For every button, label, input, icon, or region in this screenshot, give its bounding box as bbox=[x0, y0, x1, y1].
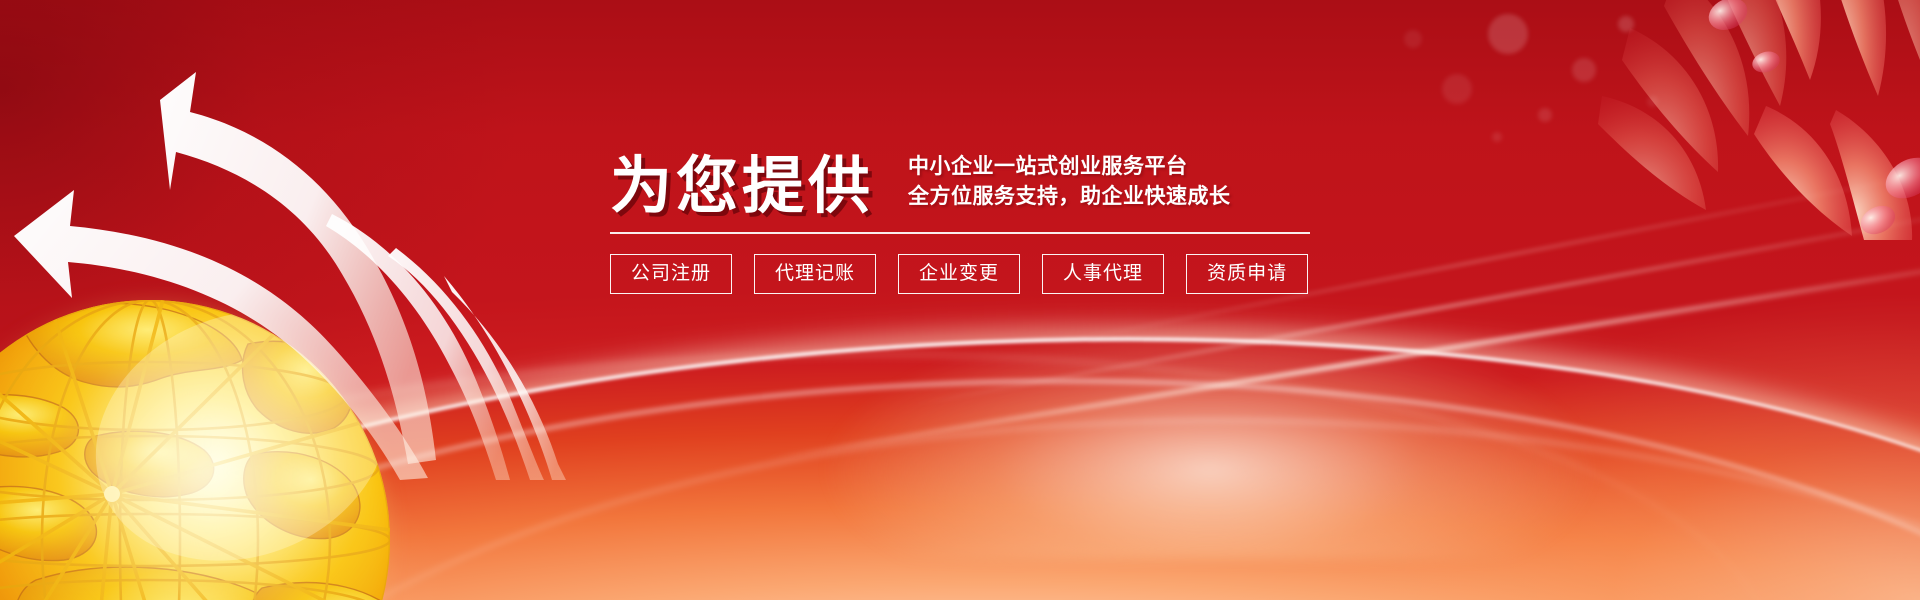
service-button-qualification-application[interactable]: 资质申请 bbox=[1186, 254, 1308, 294]
bokeh-circle-1 bbox=[1488, 14, 1528, 54]
bokeh-circle-5 bbox=[1538, 108, 1552, 122]
bokeh-circle-3 bbox=[1442, 74, 1472, 104]
bokeh-circle-6 bbox=[1492, 132, 1502, 142]
service-button-agency-bookkeeping[interactable]: 代理记账 bbox=[754, 254, 876, 294]
bokeh-circle-7 bbox=[1647, 96, 1658, 107]
bokeh-circle-8 bbox=[1404, 30, 1422, 48]
flower-petal-group bbox=[1598, 0, 1920, 240]
bokeh-circle-4 bbox=[1618, 16, 1634, 32]
bokeh-circle-2 bbox=[1572, 58, 1596, 82]
subtitle-line-2: 全方位服务支持，助企业快速成长 bbox=[908, 182, 1231, 212]
subtitle-group: 中小企业一站式创业服务平台 全方位服务支持，助企业快速成长 bbox=[908, 152, 1231, 218]
service-button-company-registration[interactable]: 公司注册 bbox=[610, 254, 732, 294]
subtitle-line-1: 中小企业一站式创业服务平台 bbox=[908, 152, 1231, 182]
page-title: 为您提供 bbox=[610, 156, 874, 218]
service-button-row: 公司注册 代理记账 企业变更 人事代理 资质申请 bbox=[610, 254, 1320, 294]
arrow-graphic bbox=[0, 60, 620, 480]
arrow-lower bbox=[14, 190, 428, 480]
headline-row: 为您提供 中小企业一站式创业服务平台 全方位服务支持，助企业快速成长 bbox=[610, 152, 1320, 218]
service-button-enterprise-change[interactable]: 企业变更 bbox=[898, 254, 1020, 294]
banner-content: 为您提供 中小企业一站式创业服务平台 全方位服务支持，助企业快速成长 公司注册 … bbox=[610, 152, 1320, 294]
divider bbox=[610, 232, 1310, 234]
promotional-banner: 为您提供 中小企业一站式创业服务平台 全方位服务支持，助企业快速成长 公司注册 … bbox=[0, 0, 1920, 600]
service-button-hr-agency[interactable]: 人事代理 bbox=[1042, 254, 1164, 294]
